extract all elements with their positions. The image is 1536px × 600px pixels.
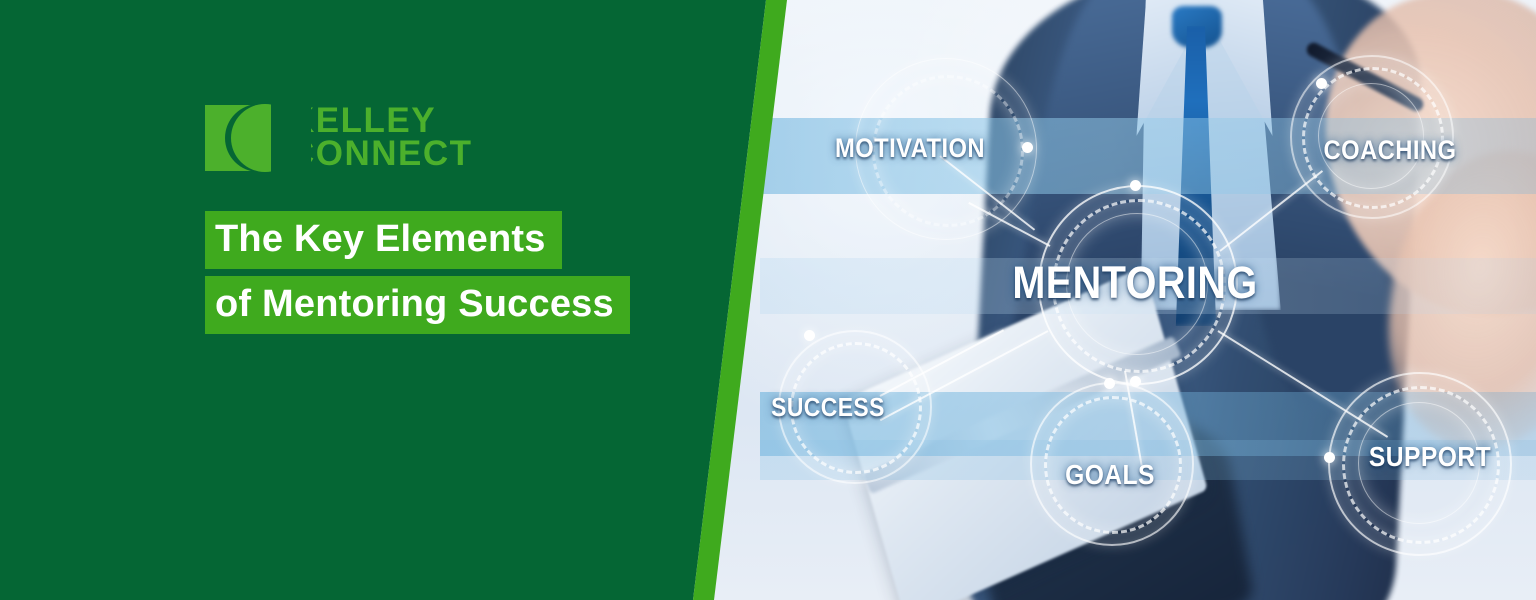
kelley-connect-logo[interactable]: KELLEY CONNECT xyxy=(205,105,473,171)
node-label-coaching: COACHING xyxy=(1311,132,1469,168)
headline-row-1: The Key Elements xyxy=(205,211,630,269)
node-dot-center-top xyxy=(1130,180,1141,191)
kelley-connect-mark-icon xyxy=(205,105,271,171)
headline-line-1: The Key Elements xyxy=(205,211,562,269)
node-dot-success xyxy=(804,330,815,341)
node-label-support: SUPPORT xyxy=(1360,440,1501,474)
node-label-success: SUCCESS xyxy=(758,390,899,424)
node-dot-coaching xyxy=(1316,78,1327,89)
logo-right-mask xyxy=(271,101,311,175)
headline: The Key Elements of Mentoring Success xyxy=(205,211,630,334)
node-dot-goals xyxy=(1104,378,1115,389)
banner-hero: MENTORING MOTIVATION COACHING SUCCESS GO… xyxy=(0,0,1536,600)
node-dot-motivation xyxy=(1022,142,1033,153)
logo-word-line2: CONNECT xyxy=(289,138,473,171)
headline-row-2: of Mentoring Success xyxy=(205,276,630,334)
node-label-mentoring: MENTORING xyxy=(1003,258,1267,308)
kelley-connect-wordmark: KELLEY CONNECT xyxy=(289,105,473,171)
node-dot-support xyxy=(1324,452,1335,463)
headline-line-2: of Mentoring Success xyxy=(205,276,630,334)
node-label-motivation: MOTIVATION xyxy=(822,130,998,166)
node-label-goals: GOALS xyxy=(1048,458,1171,492)
